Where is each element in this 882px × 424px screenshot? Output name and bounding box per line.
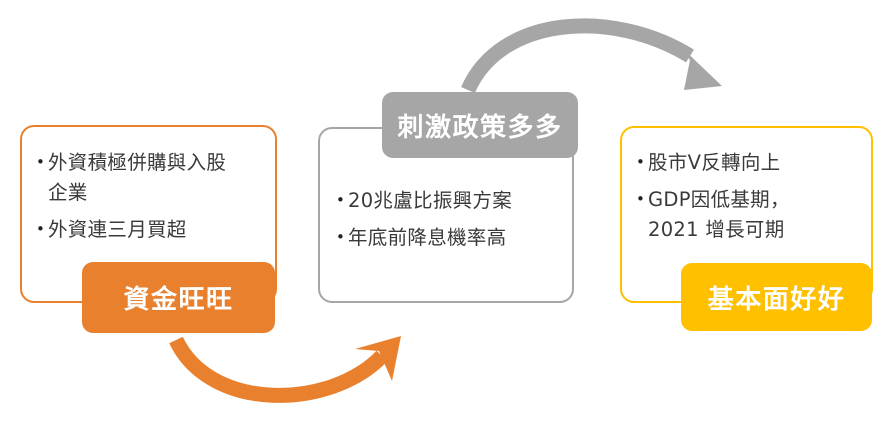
- bullet-list-policy: 20兆盧比振興方案 年底前降息機率高: [336, 186, 568, 260]
- list-item: 外資積極併購與入股 企業: [36, 148, 271, 208]
- chip-policy[interactable]: 刺激政策多多: [382, 92, 578, 158]
- list-item: 股市V反轉向上: [636, 148, 868, 178]
- diagram-canvas: 外資積極併購與入股 企業 外資連三月買超 資金旺旺 20兆盧比振興方案 年底前降…: [0, 0, 882, 424]
- gray-curved-arrow: [468, 26, 722, 90]
- bullet-list-fundamentals: 股市V反轉向上 GDP因低基期， 2021 增長可期: [636, 148, 868, 252]
- list-item: 外資連三月買超: [36, 215, 271, 245]
- chip-fundamentals[interactable]: 基本面好好: [681, 263, 872, 331]
- chip-fundamentals-label: 基本面好好: [708, 279, 846, 316]
- chip-funds[interactable]: 資金旺旺: [82, 262, 275, 333]
- chip-funds-label: 資金旺旺: [123, 279, 233, 316]
- list-item: 年底前降息機率高: [336, 223, 568, 253]
- chip-policy-label: 刺激政策多多: [397, 107, 562, 144]
- bullet-list-funds: 外資積極併購與入股 企業 外資連三月買超: [36, 148, 271, 252]
- list-item: 20兆盧比振興方案: [336, 186, 568, 216]
- list-item: GDP因低基期， 2021 增長可期: [636, 185, 868, 245]
- orange-curved-arrow: [176, 336, 401, 395]
